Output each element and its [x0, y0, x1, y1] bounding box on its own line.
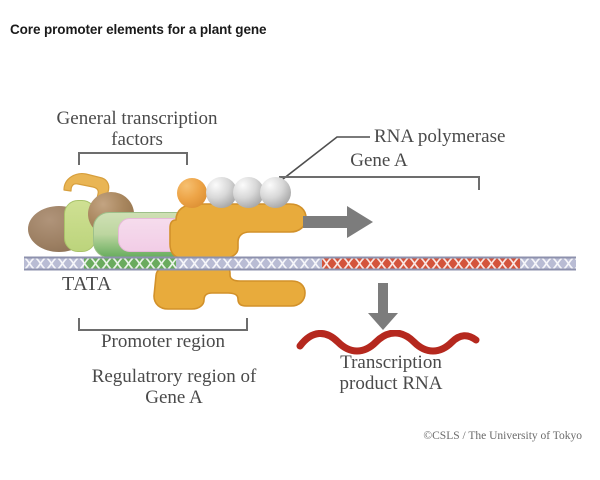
label-gene-a: Gene A — [278, 150, 480, 171]
label-rna-polymerase: RNA polymerase — [374, 126, 505, 147]
regulatory-region-line1: Regulatrory region of — [92, 366, 257, 387]
transcription-direction-arrow — [303, 206, 375, 238]
general-transcription-factors-bracket — [78, 152, 188, 165]
page-title: Core promoter elements for a plant gene — [10, 22, 266, 37]
gtf-label-line1: General transcription — [57, 108, 218, 129]
subunit-gray-sphere-3 — [260, 177, 291, 208]
rna-polymerase-lower-body — [150, 266, 310, 314]
subunit-orange-sphere — [177, 178, 207, 208]
dna-strand — [24, 256, 576, 271]
gene-a-bracket — [279, 176, 480, 190]
transcription-product-line2: product RNA — [340, 373, 443, 394]
label-tata-box: TATA — [62, 273, 112, 295]
figure-canvas: Core promoter elements for a plant gene … — [0, 0, 600, 480]
copyright-notice: ©CSLS / The University of Tokyo — [423, 430, 582, 442]
transcription-product-line1: Transcription — [340, 352, 442, 373]
regulatory-region-line2: Gene A — [145, 387, 203, 408]
gtf-label-line2: factors — [111, 129, 163, 150]
label-promoter-region: Promoter region — [70, 331, 256, 352]
label-transcription-product-rna: Transcription product RNA — [296, 352, 486, 395]
label-regulatory-region: Regulatrory region of Gene A — [55, 366, 293, 409]
transcription-output-arrow — [367, 283, 399, 331]
promoter-region-bracket — [78, 318, 248, 331]
label-general-transcription-factors: General transcription factors — [22, 108, 252, 151]
